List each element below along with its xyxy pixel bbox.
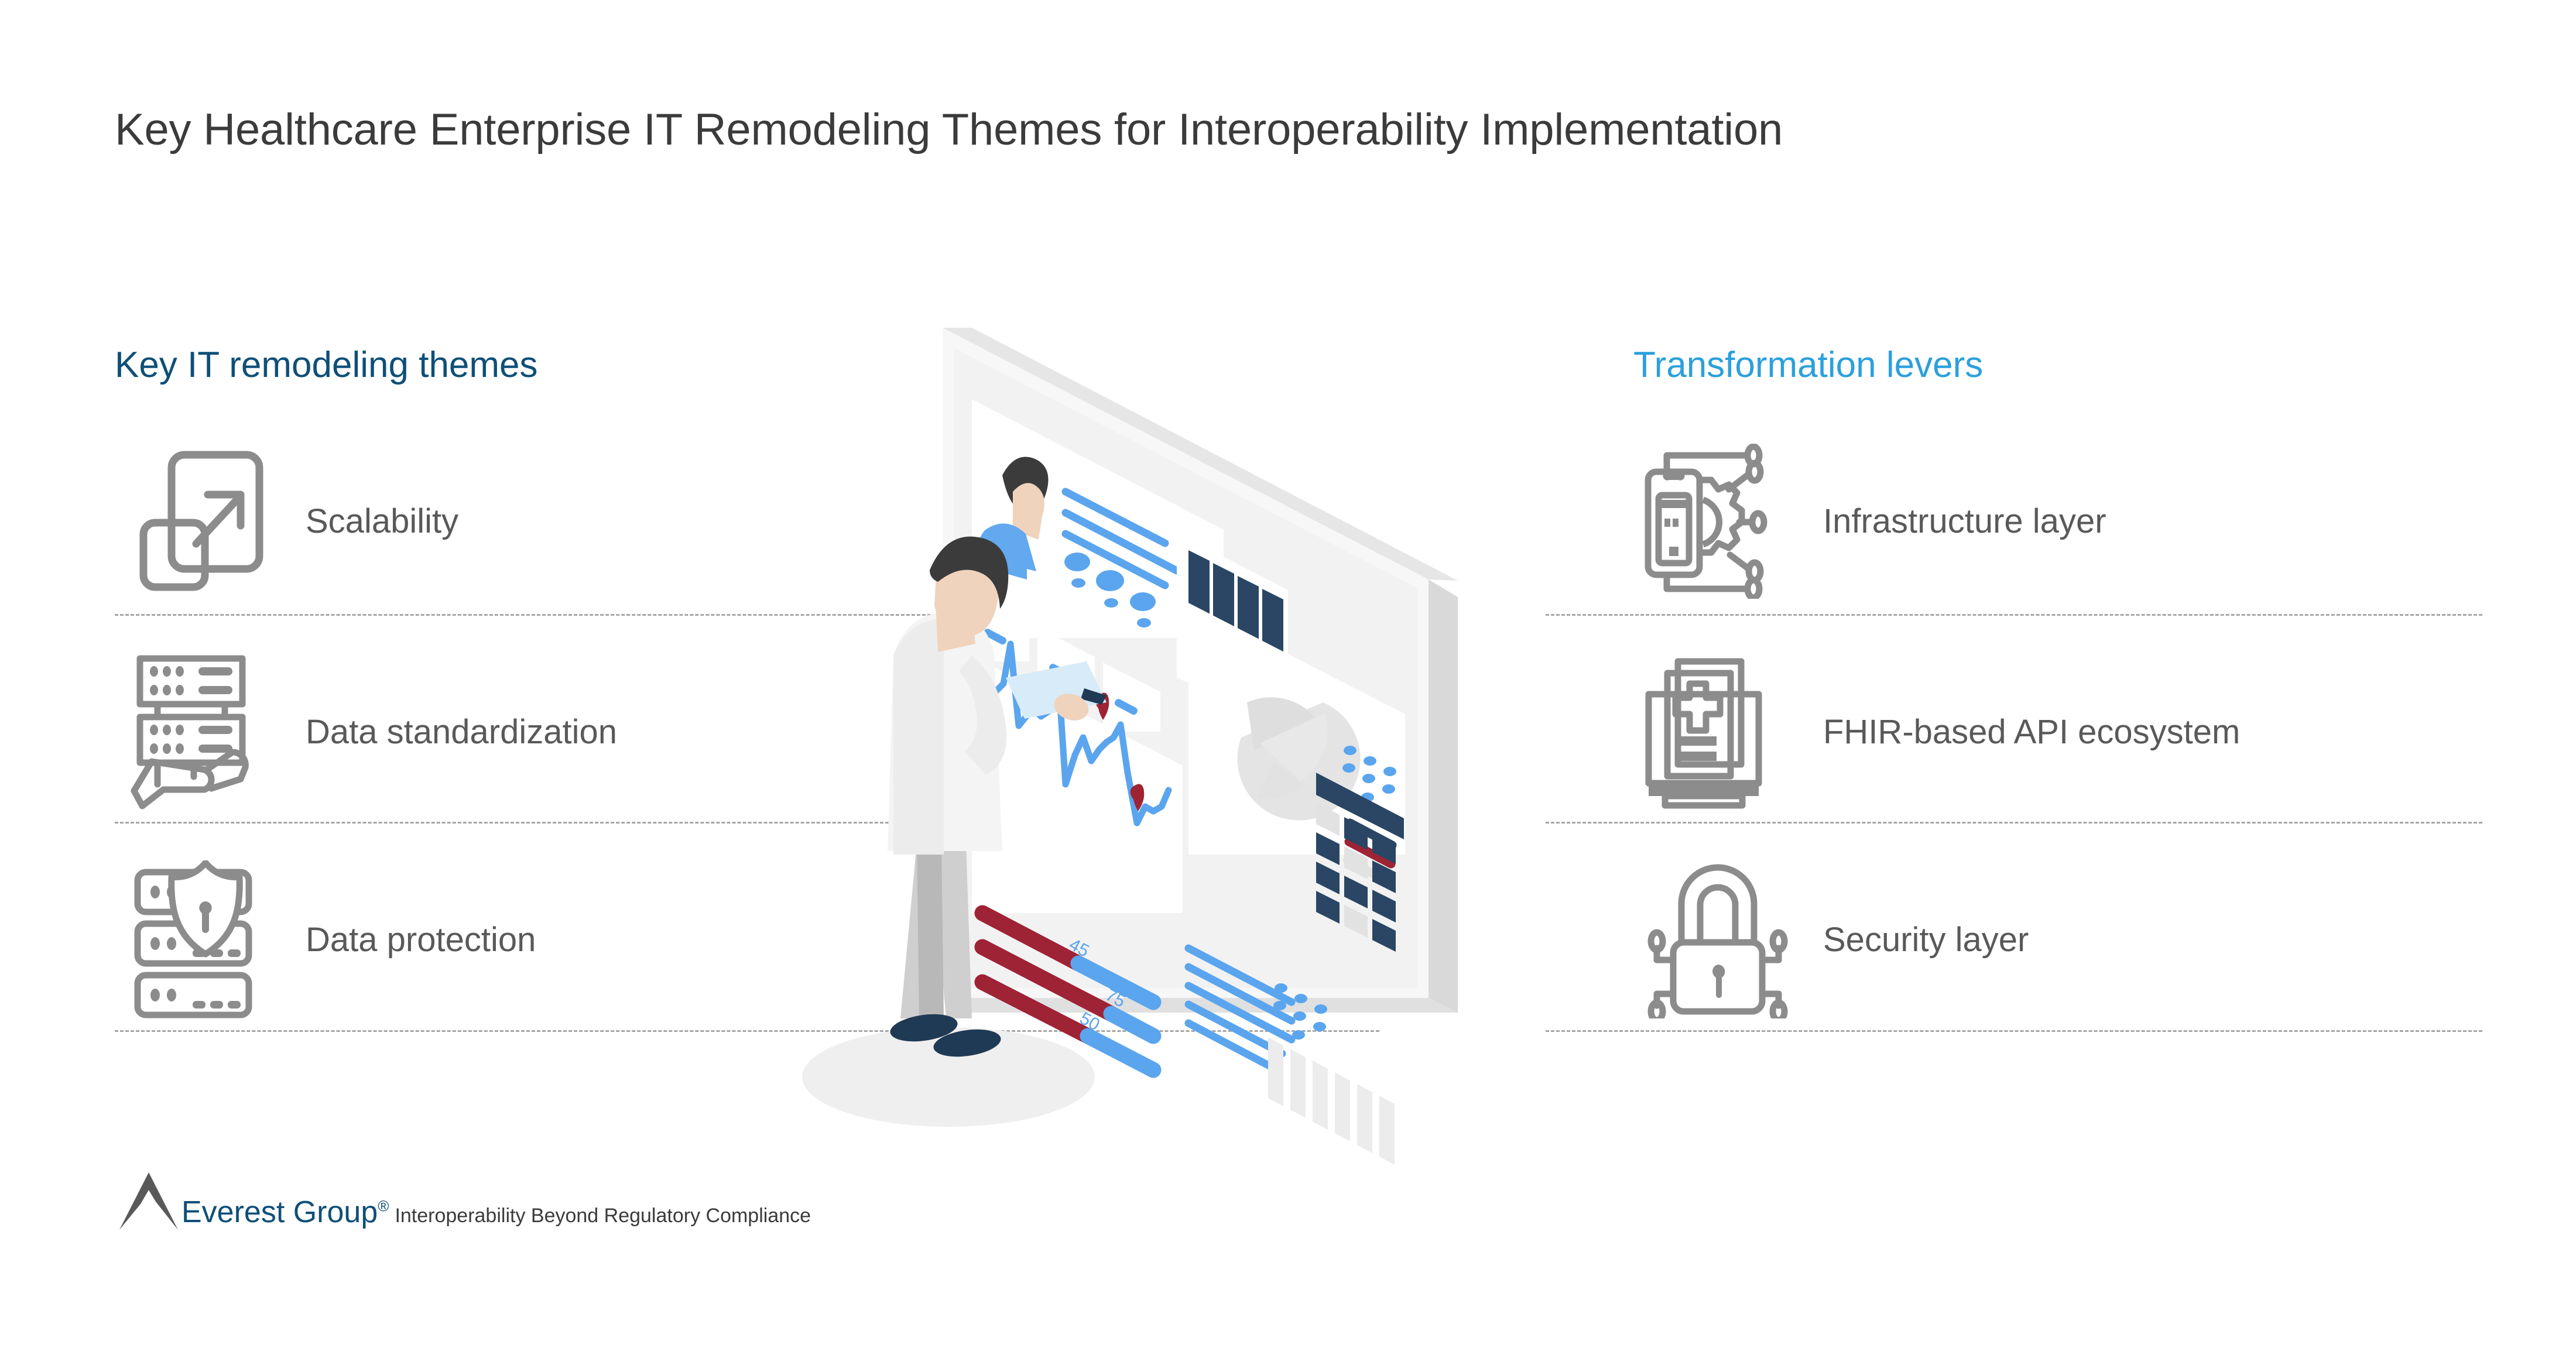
lever-label-security: Security layer	[1823, 920, 2029, 959]
registered-mark: ®	[378, 1198, 389, 1215]
lever-label-fhir-api: FHIR-based API ecosystem	[1823, 712, 2240, 752]
brand-label: Everest Group	[181, 1195, 378, 1229]
everest-peak-icon	[115, 1168, 185, 1232]
divider-right-2	[1546, 822, 2482, 824]
footer-logo: Everest Group® Interoperability Beyond R…	[115, 1162, 811, 1232]
lever-row-security: Security layer	[1633, 852, 2471, 1027]
theme-label-data-standardization: Data standardization	[306, 712, 617, 752]
server-gear-circuit-icon	[1633, 439, 1803, 603]
divider-right-1	[1546, 614, 2482, 616]
divider-right-3	[1546, 1030, 2482, 1032]
server-on-hand-icon	[115, 650, 290, 814]
right-column-heading: Transformation levers	[1633, 344, 1983, 386]
isometric-healthcare-dashboard-illustration: 45 75 50	[779, 328, 1610, 1188]
scalability-icon	[115, 439, 290, 603]
page-title: Key Healthcare Enterprise IT Remodeling …	[115, 104, 1783, 155]
slide-root: Key Healthcare Enterprise IT Remodeling …	[0, 0, 2576, 1348]
left-column-heading: Key IT remodeling themes	[115, 344, 538, 386]
theme-label-scalability: Scalability	[306, 502, 458, 541]
lever-row-infrastructure: Infrastructure layer	[1633, 433, 2471, 609]
brand-name: Everest Group®	[181, 1195, 389, 1230]
footer-tagline: Interoperability Beyond Regulatory Compl…	[395, 1205, 811, 1227]
padlock-circuit-icon	[1633, 857, 1803, 1021]
server-shield-icon	[115, 857, 290, 1021]
medical-record-monitor-icon	[1633, 650, 1803, 814]
theme-label-data-protection: Data protection	[306, 920, 536, 959]
lever-label-infrastructure: Infrastructure layer	[1823, 502, 2106, 541]
lever-row-fhir-api: FHIR-based API ecosystem	[1633, 644, 2471, 819]
